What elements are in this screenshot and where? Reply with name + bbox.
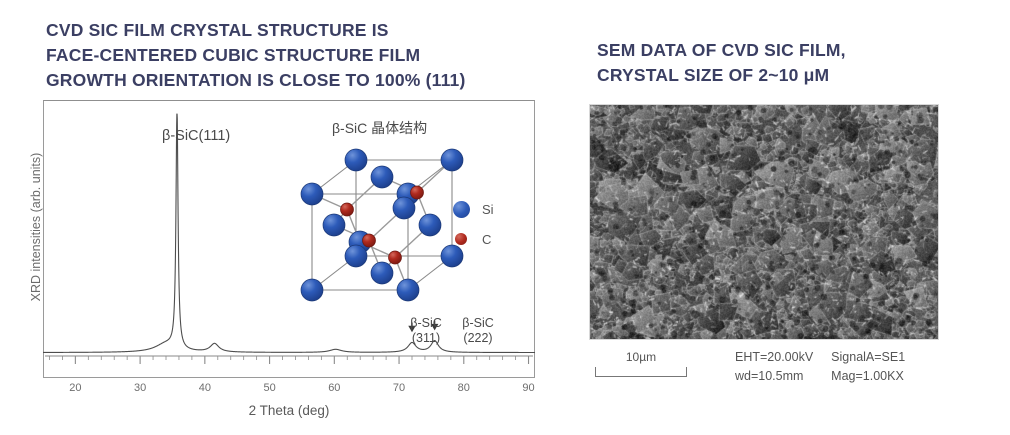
peak-label-222: β-SiC (222): [447, 316, 509, 347]
right-panel-title: SEM DATA OF CVD SIC FILM, CRYSTAL SIZE O…: [597, 38, 977, 88]
sem-meta-wd: wd=10.5mm: [735, 367, 813, 386]
beta-sic-unit-cell-diagram: [280, 142, 480, 310]
scale-bar-rule: [595, 367, 687, 377]
legend-item-c: C: [453, 224, 494, 254]
xrd-chart-panel: XRD intensities (arb. units) β-SiC(111) …: [10, 98, 555, 428]
left-title-line-1: CVD SIC FILM CRYSTAL STRUCTURE IS: [46, 18, 546, 43]
legend-label-si: Si: [482, 202, 494, 217]
sem-micrograph-canvas: [590, 105, 938, 339]
x-tick-80: 80: [458, 382, 470, 394]
peak-label-111: β-SiC(111): [162, 128, 230, 144]
crystal-legend: Si C: [453, 194, 494, 254]
left-title-line-2: FACE-CENTERED CUBIC STRUCTURE FILM: [46, 43, 546, 68]
left-panel-title: CVD SIC FILM CRYSTAL STRUCTURE IS FACE-C…: [46, 18, 546, 93]
crystal-structure-caption: β-SiC 晶体结构: [332, 118, 427, 138]
sem-meta-mag: Mag=1.00KX: [831, 367, 905, 386]
x-tick-60: 60: [328, 382, 340, 394]
peak-label-222-line1: β-SiC: [447, 316, 509, 331]
y-axis-label: XRD intensities (arb. units): [29, 127, 43, 327]
x-tick-50: 50: [263, 382, 275, 394]
legend-label-c: C: [482, 232, 491, 247]
left-title-line-3: GROWTH ORIENTATION IS CLOSE TO 100% (111…: [46, 68, 546, 93]
sem-meta-signal: SignalA=SE1: [831, 348, 905, 367]
right-title-line-1: SEM DATA OF CVD SIC FILM,: [597, 38, 977, 63]
legend-item-si: Si: [453, 194, 494, 224]
sem-panel: 10µm EHT=20.00kV SignalA=SE1 wd=10.5mm M…: [589, 104, 949, 394]
x-tick-40: 40: [199, 382, 211, 394]
si-atom-icon: [453, 201, 470, 218]
x-axis-label: 2 Theta (deg): [43, 403, 535, 418]
c-atom-icon: [455, 233, 467, 245]
x-tick-70: 70: [393, 382, 405, 394]
slide-root: CVD SIC FILM CRYSTAL STRUCTURE IS FACE-C…: [0, 0, 1010, 435]
x-tick-20: 20: [69, 382, 81, 394]
peak-label-222-line2: (222): [447, 331, 509, 346]
sem-metadata: EHT=20.00kV SignalA=SE1 wd=10.5mm Mag=1.…: [735, 348, 905, 386]
sem-meta-eht: EHT=20.00kV: [735, 348, 813, 367]
x-tick-30: 30: [134, 382, 146, 394]
scale-bar-label: 10µm: [595, 350, 687, 364]
sem-micrograph: [589, 104, 939, 340]
right-title-line-2: CRYSTAL SIZE OF 2~10 μM: [597, 63, 977, 88]
sem-scale-bar: 10µm: [593, 350, 713, 377]
x-tick-90: 90: [522, 382, 534, 394]
